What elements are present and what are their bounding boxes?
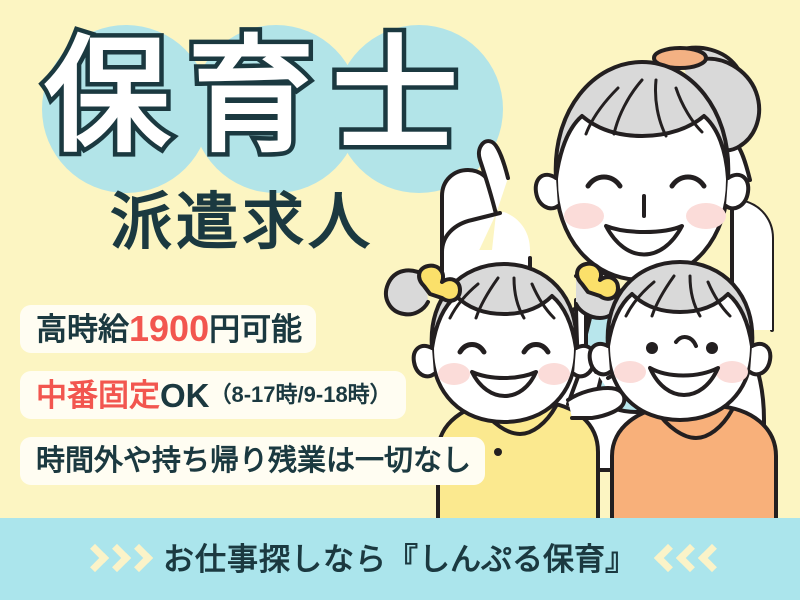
chevron-left-icon [677, 544, 695, 574]
feature-wage-amount: 1900 [129, 311, 209, 347]
feature-wage: 高時給1900円可能 [20, 305, 316, 353]
teacher-body [520, 298, 764, 470]
feature-shift-accent: 中番固定 [36, 380, 160, 411]
chevron-right-icon [127, 544, 145, 574]
feature-list: 高時給1900円可能 中番固定OK（8-17時/9-18時） 時間外や持ち帰り残… [20, 305, 540, 503]
chevrons-right-pointing [83, 544, 145, 574]
chevron-left-icon [655, 544, 673, 574]
feature-overtime-text: 時間外や持ち帰り残業は一切なし [36, 447, 471, 476]
feature-wage-suffix: 円可能 [209, 314, 302, 345]
banner-lead-text: お仕事探しなら [163, 542, 387, 577]
teacher-head [536, 48, 759, 280]
teacher-right-arm [720, 141, 772, 330]
page-title: 保育士 [44, 34, 476, 160]
feature-overtime: 時間外や持ち帰り残業は一切なし [20, 437, 485, 485]
chevron-right-icon [105, 544, 123, 574]
brand-name: しんぷる保育 [419, 542, 605, 577]
chevrons-left-pointing [655, 544, 717, 574]
feature-shift: 中番固定OK（8-17時/9-18時） [20, 371, 406, 419]
teacher-left-arm [442, 141, 530, 330]
banner-message: お仕事探しなら『しんぷる保育』 [163, 544, 637, 575]
feature-shift-ok: OK [160, 379, 210, 412]
banner-open-quote: 『 [387, 542, 419, 577]
page-subtitle: 派遣求人 [110, 192, 374, 254]
child-right [590, 262, 776, 520]
feature-shift-hours: （8-17時/9-18時） [210, 384, 392, 406]
chevron-right-icon [83, 544, 101, 574]
bottom-banner: お仕事探しなら『しんぷる保育』 [0, 518, 800, 600]
feature-wage-prefix: 高時給 [36, 314, 129, 345]
poster-root: 保育士 派遣求人 高時給1900円可能 中番固定OK（8-17時/9-18時） … [0, 0, 800, 600]
banner-close-quote: 』 [605, 542, 637, 577]
chevron-left-icon [699, 544, 717, 574]
